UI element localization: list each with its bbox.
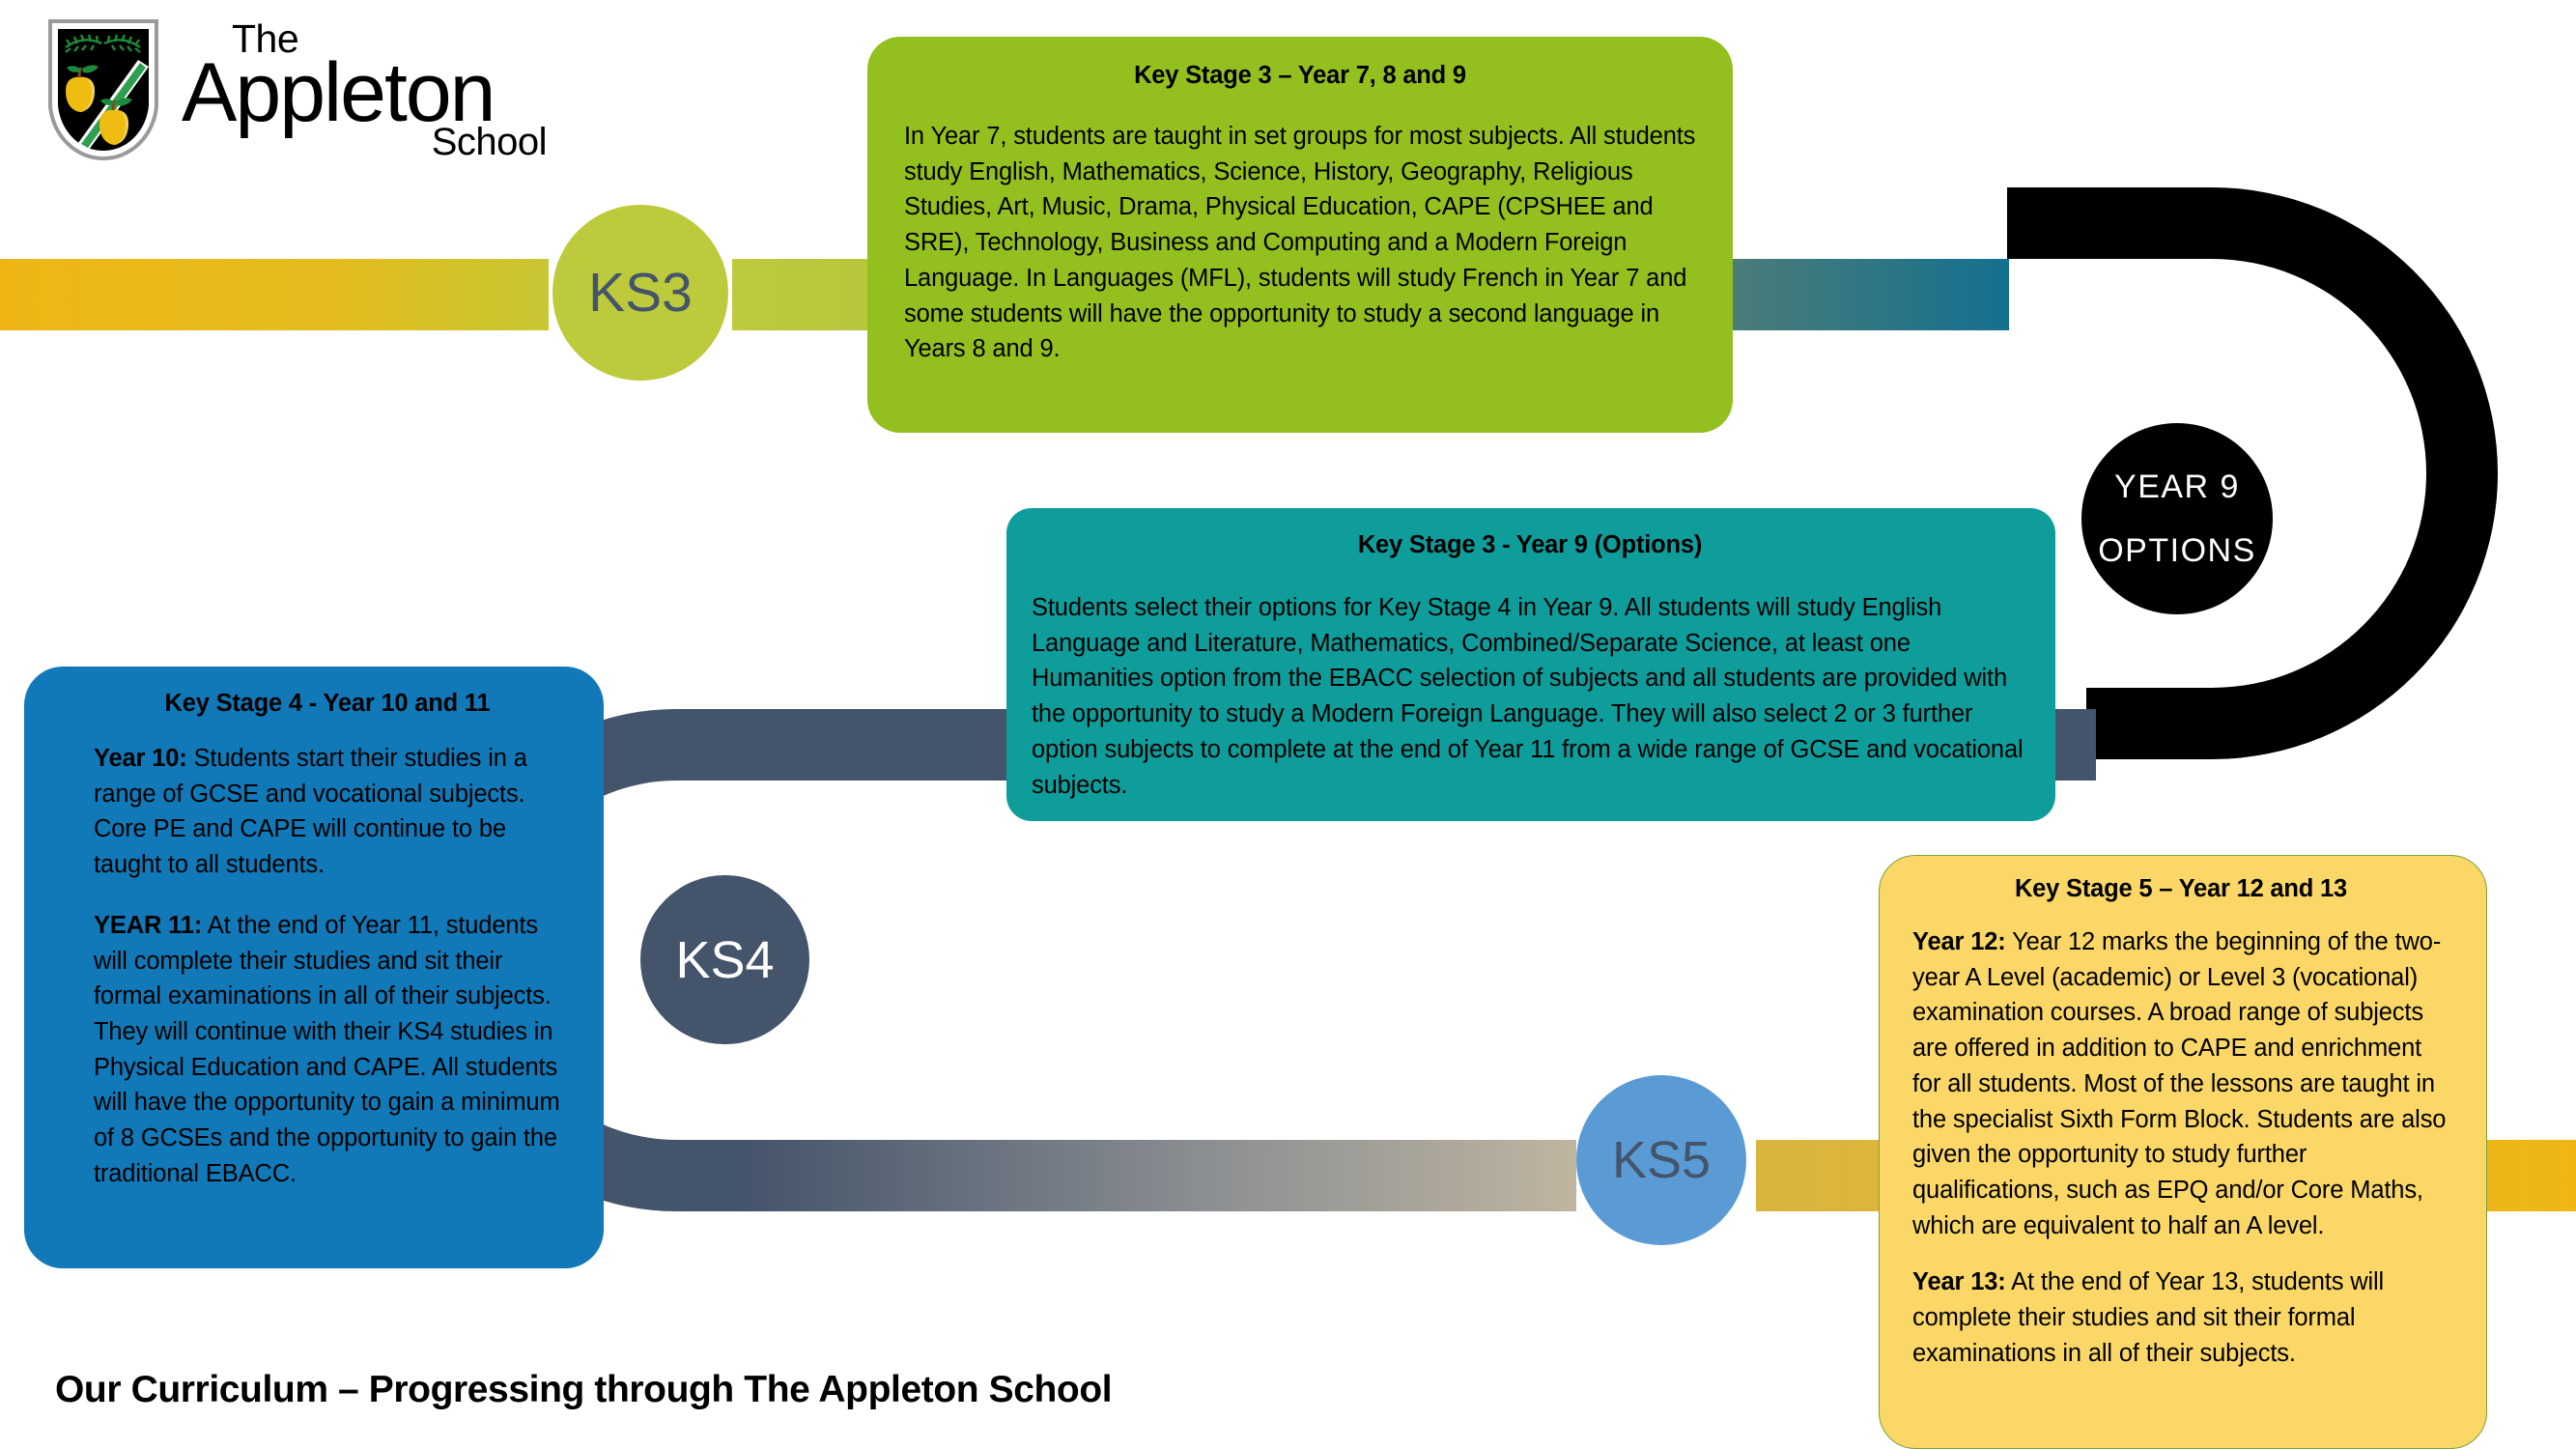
ks4-year11-label: YEAR 11: bbox=[94, 912, 202, 939]
ribbon-segment-gold-left bbox=[0, 259, 549, 330]
school-logo-wordmark: The Appleton School bbox=[182, 19, 587, 161]
ks4-stage-marker[interactable]: KS4 bbox=[640, 875, 809, 1044]
year9-options-marker[interactable]: YEAR 9 OPTIONS bbox=[2081, 423, 2273, 614]
ks5-year12-label: Year 12: bbox=[1912, 928, 2006, 955]
ks5-label: KS5 bbox=[1612, 1130, 1711, 1190]
year9-options-line1: YEAR 9 bbox=[2114, 455, 2240, 519]
ks5-box-title: Key Stage 5 – Year 12 and 13 bbox=[1912, 875, 2449, 903]
ks5-paragraph-year13: Year 13: At the end of Year 13, students… bbox=[1912, 1264, 2449, 1371]
ks3-box-body: In Year 7, students are taught in set gr… bbox=[904, 119, 1696, 367]
year9-options-line2: OPTIONS bbox=[2098, 519, 2256, 582]
ks4-box-title: Key Stage 4 - Year 10 and 11 bbox=[94, 690, 561, 718]
school-logo: The Appleton School bbox=[46, 17, 587, 201]
ks4-paragraph-year11: YEAR 11: At the end of Year 11, students… bbox=[94, 908, 561, 1192]
ks4-year11-body: At the end of Year 11, students will com… bbox=[94, 912, 560, 1187]
curriculum-infographic: The Appleton School KS3 KS4 KS5 YEAR 9 O… bbox=[0, 0, 2576, 1449]
page-title: Our Curriculum – Progressing through The… bbox=[55, 1369, 1112, 1411]
ks5-year13-label: Year 13: bbox=[1912, 1268, 2006, 1295]
ribbon-segment-bottom-gradient bbox=[744, 1140, 1576, 1211]
ks4-info-box: Key Stage 4 - Year 10 and 11 Year 10: St… bbox=[24, 667, 604, 1268]
shield-crest-icon bbox=[46, 17, 160, 162]
ks3-options-info-box: Key Stage 3 - Year 9 (Options) Students … bbox=[1006, 508, 2055, 821]
ks3-info-box: Key Stage 3 – Year 7, 8 and 9 In Year 7,… bbox=[867, 37, 1733, 433]
ribbon-segment-teal bbox=[1729, 259, 2009, 330]
ks4-label: KS4 bbox=[675, 930, 774, 990]
ks3-box-title: Key Stage 3 – Year 7, 8 and 9 bbox=[904, 62, 1696, 90]
ks5-info-box: Key Stage 5 – Year 12 and 13 Year 12: Ye… bbox=[1879, 855, 2487, 1449]
ks5-paragraph-year12: Year 12: Year 12 marks the beginning of … bbox=[1912, 924, 2449, 1243]
ks5-stage-marker[interactable]: KS5 bbox=[1576, 1075, 1746, 1245]
ks5-year12-body: Year 12 marks the beginning of the two-y… bbox=[1912, 928, 2446, 1239]
ribbon-segment-olive bbox=[732, 259, 873, 330]
ks3-options-box-body: Students select their options for Key St… bbox=[1032, 590, 2028, 803]
ks4-year10-label: Year 10: bbox=[94, 745, 187, 772]
ks3-stage-marker[interactable]: KS3 bbox=[552, 205, 728, 381]
ks3-options-box-title: Key Stage 3 - Year 9 (Options) bbox=[1032, 531, 2028, 559]
ks3-label: KS3 bbox=[588, 261, 693, 325]
ks4-paragraph-year10: Year 10: Students start their studies in… bbox=[94, 741, 561, 883]
